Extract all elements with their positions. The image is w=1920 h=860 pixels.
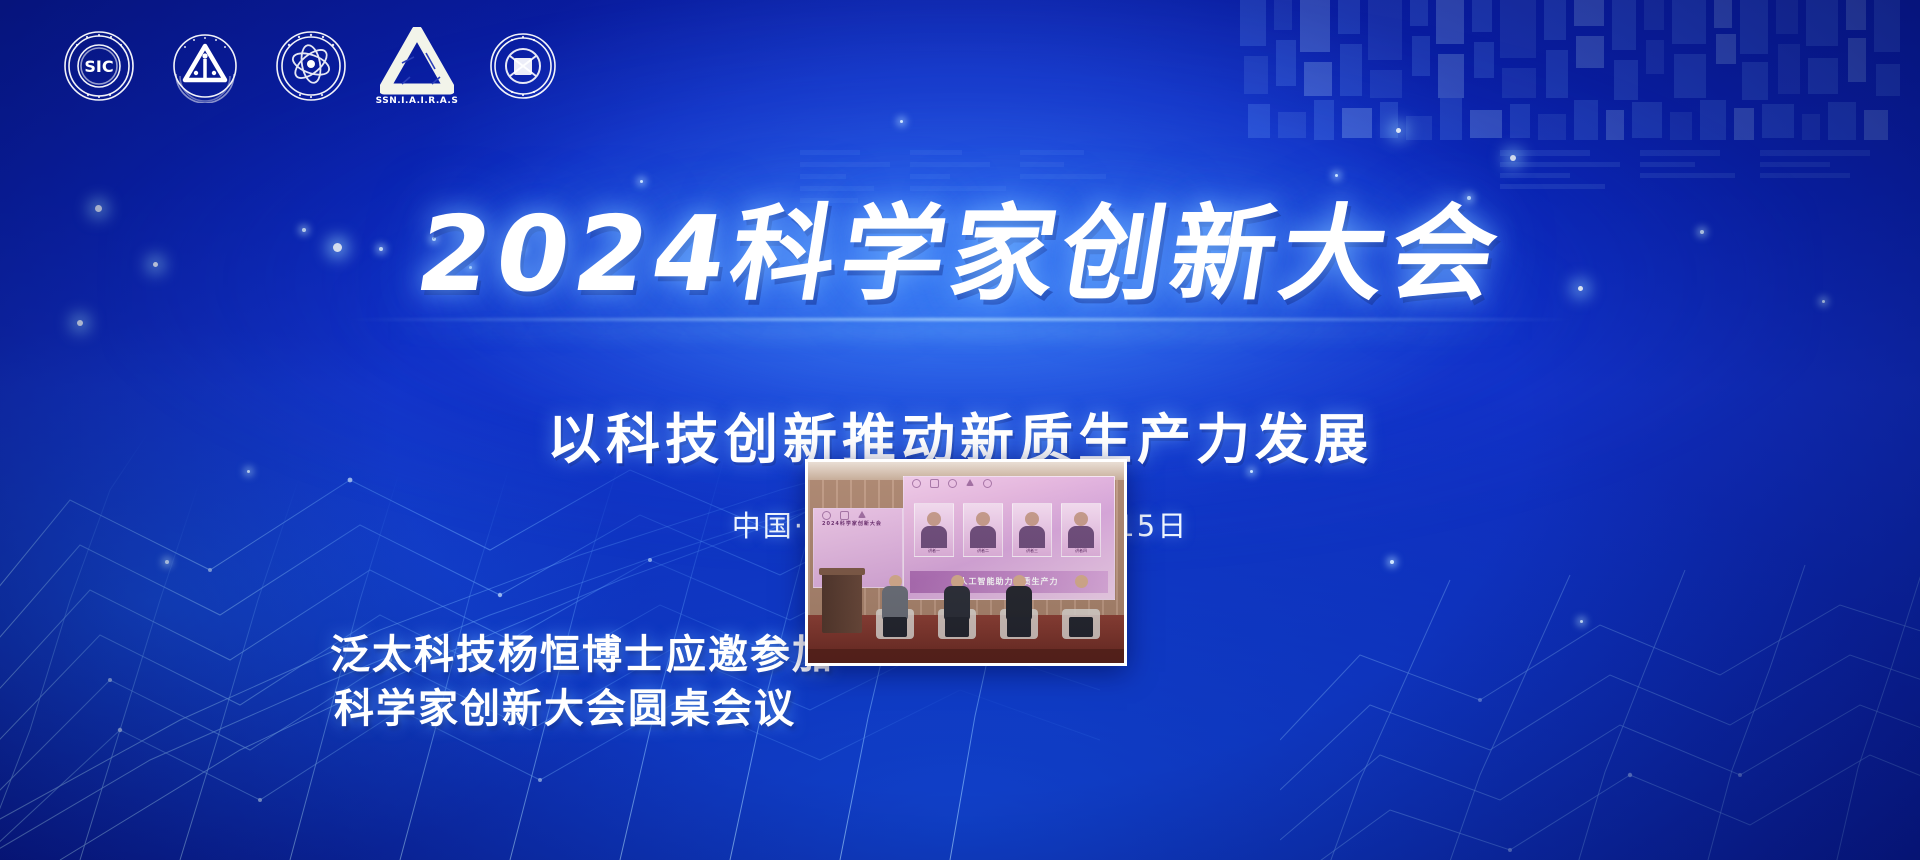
delta-logo-label: SSN.I.A.I.R.A.S bbox=[376, 96, 459, 106]
light-streak bbox=[0, 318, 1920, 321]
announcement-headline: 泛太科技杨恒博士应邀参加 科学家创新大会圆桌会议 bbox=[330, 628, 800, 737]
atom-seal-logo bbox=[272, 20, 350, 112]
delta-triangle-logo: SSN.I.A.I.R.A.S bbox=[378, 18, 456, 114]
svg-text:SIC: SIC bbox=[84, 57, 113, 76]
photo-overlay bbox=[808, 462, 1124, 663]
network-mesh-right-decoration bbox=[1280, 560, 1920, 860]
headline-line-1: 泛太科技杨恒博士应邀参加 bbox=[330, 628, 800, 682]
light-streak-glow bbox=[0, 322, 1920, 340]
poster-canvas: SIC bbox=[0, 0, 1920, 860]
roundtable-conference-photo: 2024科学家创新大会 讲者一 讲者二 bbox=[805, 459, 1127, 666]
shield-seal-logo bbox=[484, 20, 562, 112]
sponsor-logos: SIC bbox=[60, 18, 562, 114]
sic-seal-logo: SIC bbox=[60, 20, 138, 112]
triangle-seal-logo bbox=[166, 20, 244, 112]
page-title: 2024科学家创新大会 bbox=[0, 198, 1920, 310]
headline-line-2: 科学家创新大会圆桌会议 bbox=[330, 682, 800, 736]
